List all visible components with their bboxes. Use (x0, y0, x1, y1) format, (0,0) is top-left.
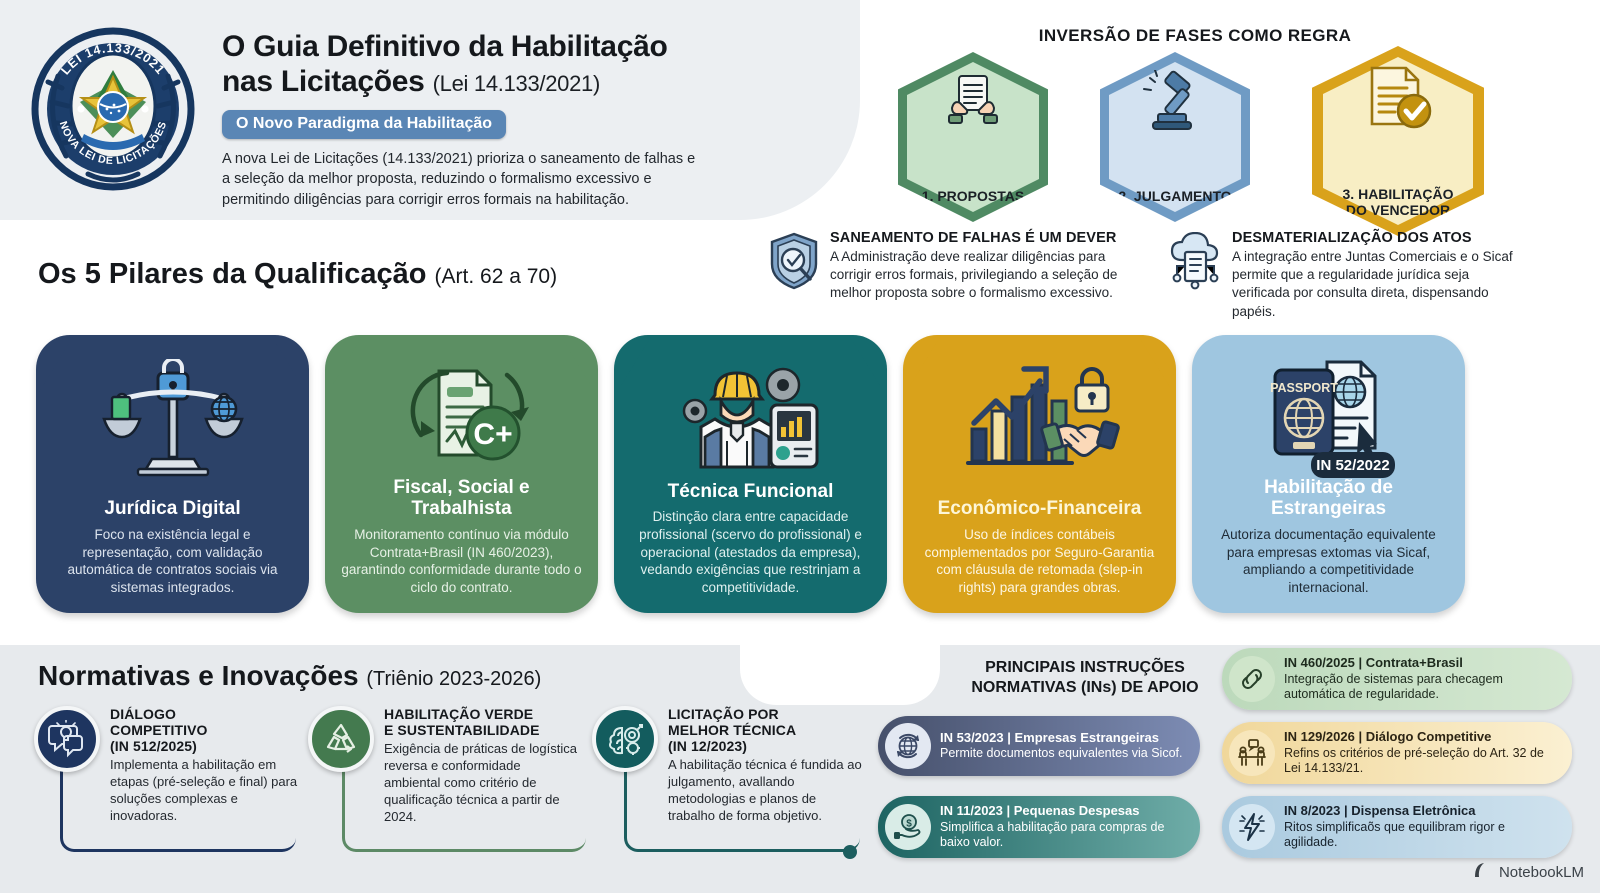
normatives-section-title: Normativas e Inovações (Triênio 2023-202… (38, 660, 541, 692)
phase-card-propostas[interactable]: 1. PROPOSTAS (898, 52, 1048, 222)
title-line-1: O Guia Definitivo da Habilitação (222, 30, 667, 63)
pillar-card-tecnica-funcional[interactable]: Técnica Funcional Distinção clara entre … (614, 335, 887, 613)
pillar-card-juridica-digital[interactable]: Jurídica Digital Foco na existência lega… (36, 335, 309, 613)
header-description: A nova Lei de Licitações (14.133/2021) p… (222, 149, 702, 211)
gavel-icon (1100, 70, 1250, 136)
callout-text: A Administração deve realizar diligência… (830, 248, 1118, 303)
recycle-icon (308, 706, 374, 772)
globe-arrows-icon (885, 723, 931, 769)
normative-heading: LICITAÇÃO POR MELHOR TÉCNICA (IN 12/2023… (668, 706, 864, 754)
header-row: LEI 14.133/2021 NOVA LEI DE LICITAÇÕES O… (0, 0, 860, 220)
pillar-description: Monitoramento contínuo via módulo Contra… (341, 526, 582, 597)
normative-heading-line3: (IN 12/2023) (668, 738, 747, 754)
bottom-panel-notch (740, 645, 940, 705)
in-name: Dispensa Eletrônica (1351, 803, 1475, 818)
phase-card-julgamento[interactable]: 2. JULGAMENTO (1100, 52, 1250, 222)
in-code: IN 8/2023 (1284, 803, 1340, 818)
normative-desc: Implementa a habilitação em etapas (pré-… (110, 757, 306, 825)
in-code: IN 11/2023 (940, 803, 1003, 818)
normative-item-dialogo-competitivo[interactable]: DIÁLOGO COMPETITIVO (IN 512/2025) Implem… (34, 706, 306, 825)
ins-title-line2: NORMATIVAS (INs) DE APOIO (971, 679, 1198, 696)
hands-document-icon (898, 70, 1048, 136)
in-desc: Refins os critérios de pré-seleção do Ar… (1284, 746, 1558, 777)
callout-title: SANEAMENTO DE FALHAS É UM DEVER (830, 230, 1118, 246)
title-line-2: nas Licitações (222, 65, 425, 98)
seal-graphic: LEI 14.133/2021 NOVA LEI DE LICITAÇÕES (18, 14, 208, 204)
link-chain-icon (1229, 656, 1275, 702)
in-heading: IN 129/2026 | Diálogo Competitive (1284, 729, 1558, 745)
lightbulb-chat-icon (34, 706, 100, 772)
normative-heading-line1: HABILITAÇÃO VERDE (384, 706, 533, 722)
in-heading: IN 8/2023 | Dispensa Eletrônica (1284, 803, 1558, 819)
phase-label: 2. JULGAMENTO (1118, 189, 1231, 222)
paradigm-badge: O Novo Paradigma da Habilitação (222, 110, 506, 139)
in-heading: IN 460/2025 | Contrata+Brasil (1284, 655, 1558, 671)
timeline-end-dot (843, 845, 857, 859)
in-pill-129-2026[interactable]: IN 129/2026 | Diálogo Competitive Refins… (1222, 722, 1572, 784)
pillar-description: Autoriza documentação equivalente para e… (1208, 526, 1449, 597)
in-desc: Simplifica a habilitação para compras de… (940, 820, 1186, 851)
callout-desmaterializacao: DESMATERIALIZAÇÃO DOS ATOS A integração … (1168, 230, 1528, 321)
pillar-title: Econômico-Financeira (938, 498, 1142, 519)
normative-desc: Exigência de práticas de logística rever… (384, 741, 580, 825)
callout-text: A integração entre Juntas Comerciais e o… (1232, 248, 1528, 321)
passport-label: PASSPORT (1270, 381, 1338, 395)
normative-item-melhor-tecnica[interactable]: LICITAÇÃO POR MELHOR TÉCNICA (IN 12/2023… (592, 706, 864, 825)
in-heading: IN 11/2023 | Pequenas Despesas (940, 803, 1186, 819)
cloud-document-icon (1168, 230, 1222, 321)
in-pill-53-2023[interactable]: IN 53/2023 | Empresas Estrangeiras Permi… (878, 716, 1200, 776)
pillars-row: Jurídica Digital Foco na existência lega… (36, 335, 1465, 613)
phase-label: 1. PROPOSTAS (922, 189, 1024, 222)
pillar-title: Jurídica Digital (104, 498, 240, 519)
document-check-icon (1312, 64, 1484, 136)
pillar-card-fiscal-social-trabalhista[interactable]: C+ Fiscal, Social e Trabalhista Monitora… (325, 335, 598, 613)
normatives-title-text: Normativas e Inovações (38, 660, 359, 691)
meeting-table-icon (1229, 730, 1275, 776)
title-law-ref: (Lei 14.133/2021) (433, 71, 600, 96)
shield-magnifier-icon (768, 230, 820, 303)
normative-heading-line2: MELHOR TÉCNICA (668, 722, 796, 738)
in-name: Contrata+Brasil (1366, 655, 1463, 670)
pillar-description: Uso de índices contábeis complementados … (919, 526, 1160, 597)
in-desc: Integração de sistemas para checagem aut… (1284, 672, 1558, 703)
page-title: O Guia Definitivo da Habilitação nas Lic… (222, 30, 822, 100)
pillar-card-habilitacao-estrangeiras[interactable]: PASSPORT IN 52/2022 Habilitação de Estra… (1192, 335, 1465, 613)
normatives-period: (Triênio 2023-2026) (366, 668, 541, 690)
svg-text:C+: C+ (473, 418, 512, 451)
svg-text:$: $ (906, 818, 912, 829)
pillar-card-economico-financeira[interactable]: Econômico-Financeira Uso de índices cont… (903, 335, 1176, 613)
pillar-description: Distinção clara entre capacidade profiss… (630, 508, 871, 597)
in-code: IN 460/2025 (1284, 655, 1355, 670)
pillars-title-text: Os 5 Pilares da Qualificação (38, 258, 426, 290)
in-code: IN 53/2023 (940, 730, 1004, 745)
phase-label: 3. HABILITAÇÃO DO VENCEDOR (1343, 187, 1454, 236)
hand-coin-icon: $ (885, 804, 931, 850)
pillars-articles: (Art. 62 a 70) (435, 265, 558, 288)
callout-saneamento: SANEAMENTO DE FALHAS É UM DEVER A Admini… (768, 230, 1118, 303)
phases-title: INVERSÃO DE FASES COMO REGRA (1030, 26, 1360, 46)
notebooklm-icon (1473, 861, 1493, 883)
normative-heading-line1: DIÁLOGO (110, 706, 176, 722)
in-desc: Permite documentos equivalentes via Sico… (940, 746, 1183, 762)
watermark-label: NotebookLM (1499, 864, 1584, 881)
in-name: Diálogo Competitive (1366, 729, 1492, 744)
phase-card-habilitacao-vencedor[interactable]: 3. HABILITAÇÃO DO VENCEDOR (1312, 46, 1484, 236)
normative-heading-line2: COMPETITIVO (110, 722, 208, 738)
passport-icon: PASSPORT IN 52/2022 (1192, 355, 1465, 485)
in-name: Empresas Estrangeiras (1014, 730, 1159, 745)
normative-heading-line3: (IN 512/2025) (110, 738, 197, 754)
normative-item-habilitacao-verde[interactable]: HABILITAÇÃO VERDE E SUSTENTABILIDADE Exi… (308, 706, 580, 826)
document-cycle-icon: C+ (325, 355, 598, 485)
normative-heading-line1: LICITAÇÃO POR (668, 706, 779, 722)
phase-label-line1: 3. HABILITAÇÃO (1343, 186, 1454, 202)
phase-label-line2: DO VENCEDOR (1346, 202, 1450, 218)
in-pill-8-2023[interactable]: IN 8/2023 | Dispensa Eletrônica Ritos si… (1222, 796, 1572, 858)
worker-tablet-icon (614, 355, 887, 485)
brain-target-icon (592, 706, 658, 772)
in-badge-label: IN 52/2022 (1316, 457, 1389, 474)
in-desc: Ritos simplificaõs que equilibram rigor … (1284, 820, 1558, 851)
in-pill-460-2025[interactable]: IN 460/2025 | Contrata+Brasil Integração… (1222, 648, 1572, 710)
lightning-icon (1229, 804, 1275, 850)
ins-title-line1: PRINCIPAIS INSTRUÇÕES (985, 659, 1185, 676)
pillar-description: Foco na existência legal e representação… (52, 526, 293, 597)
in-pill-11-2023[interactable]: $ IN 11/2023 | Pequenas Despesas Simplif… (878, 796, 1200, 858)
ins-section-title: PRINCIPAIS INSTRUÇÕES NORMATIVAS (INs) D… (960, 658, 1210, 697)
in-name: Pequenas Despesas (1014, 803, 1140, 818)
normative-heading: DIÁLOGO COMPETITIVO (IN 512/2025) (110, 706, 306, 754)
pillars-section-title: Os 5 Pilares da Qualificação (Art. 62 a … (38, 258, 557, 291)
growth-handshake-icon (903, 355, 1176, 485)
normative-heading: HABILITAÇÃO VERDE E SUSTENTABILIDADE (384, 706, 580, 738)
normative-heading-line2: E SUSTENTABILIDADE (384, 722, 540, 738)
normative-desc: A habilitação técnica é fundida ao julga… (668, 757, 864, 825)
notebooklm-watermark: NotebookLM (1473, 861, 1584, 883)
in-heading: IN 53/2023 | Empresas Estrangeiras (940, 730, 1183, 746)
scales-lock-icon (36, 355, 309, 485)
callout-title: DESMATERIALIZAÇÃO DOS ATOS (1232, 230, 1528, 246)
header-text-block: O Guia Definitivo da Habilitação nas Lic… (222, 14, 822, 210)
in-code: IN 129/2026 (1284, 729, 1355, 744)
brazil-seal-logo: LEI 14.133/2021 NOVA LEI DE LICITAÇÕES (18, 14, 208, 204)
